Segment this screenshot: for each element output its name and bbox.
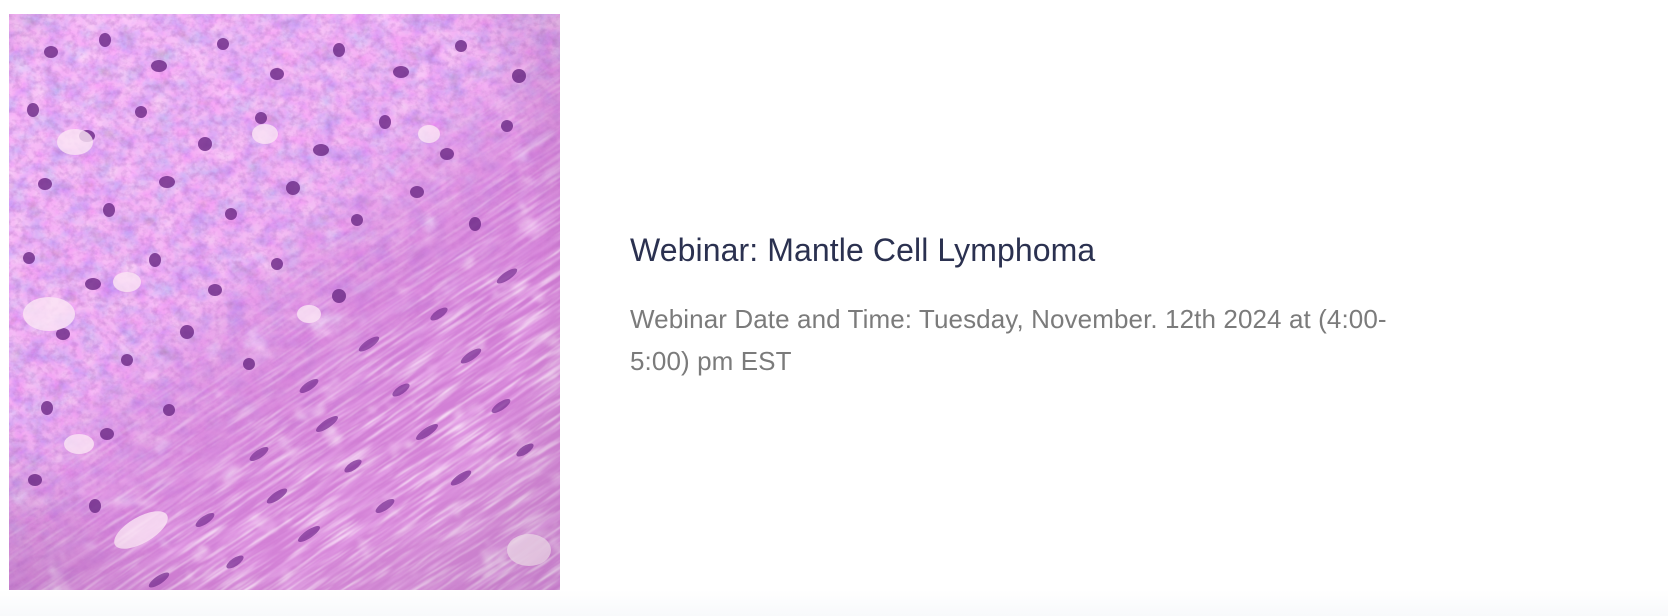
histology-image-canvas [9, 14, 560, 616]
page-title: Webinar: Mantle Cell Lymphoma [630, 228, 1530, 272]
bottom-divider-band [0, 590, 1668, 616]
webinar-datetime: Webinar Date and Time: Tuesday, November… [630, 272, 1430, 382]
page-canvas: Webinar: Mantle Cell Lymphoma Webinar Da… [0, 0, 1668, 616]
webinar-text-block: Webinar: Mantle Cell Lymphoma Webinar Da… [630, 228, 1530, 382]
histology-micrograph [9, 14, 560, 616]
